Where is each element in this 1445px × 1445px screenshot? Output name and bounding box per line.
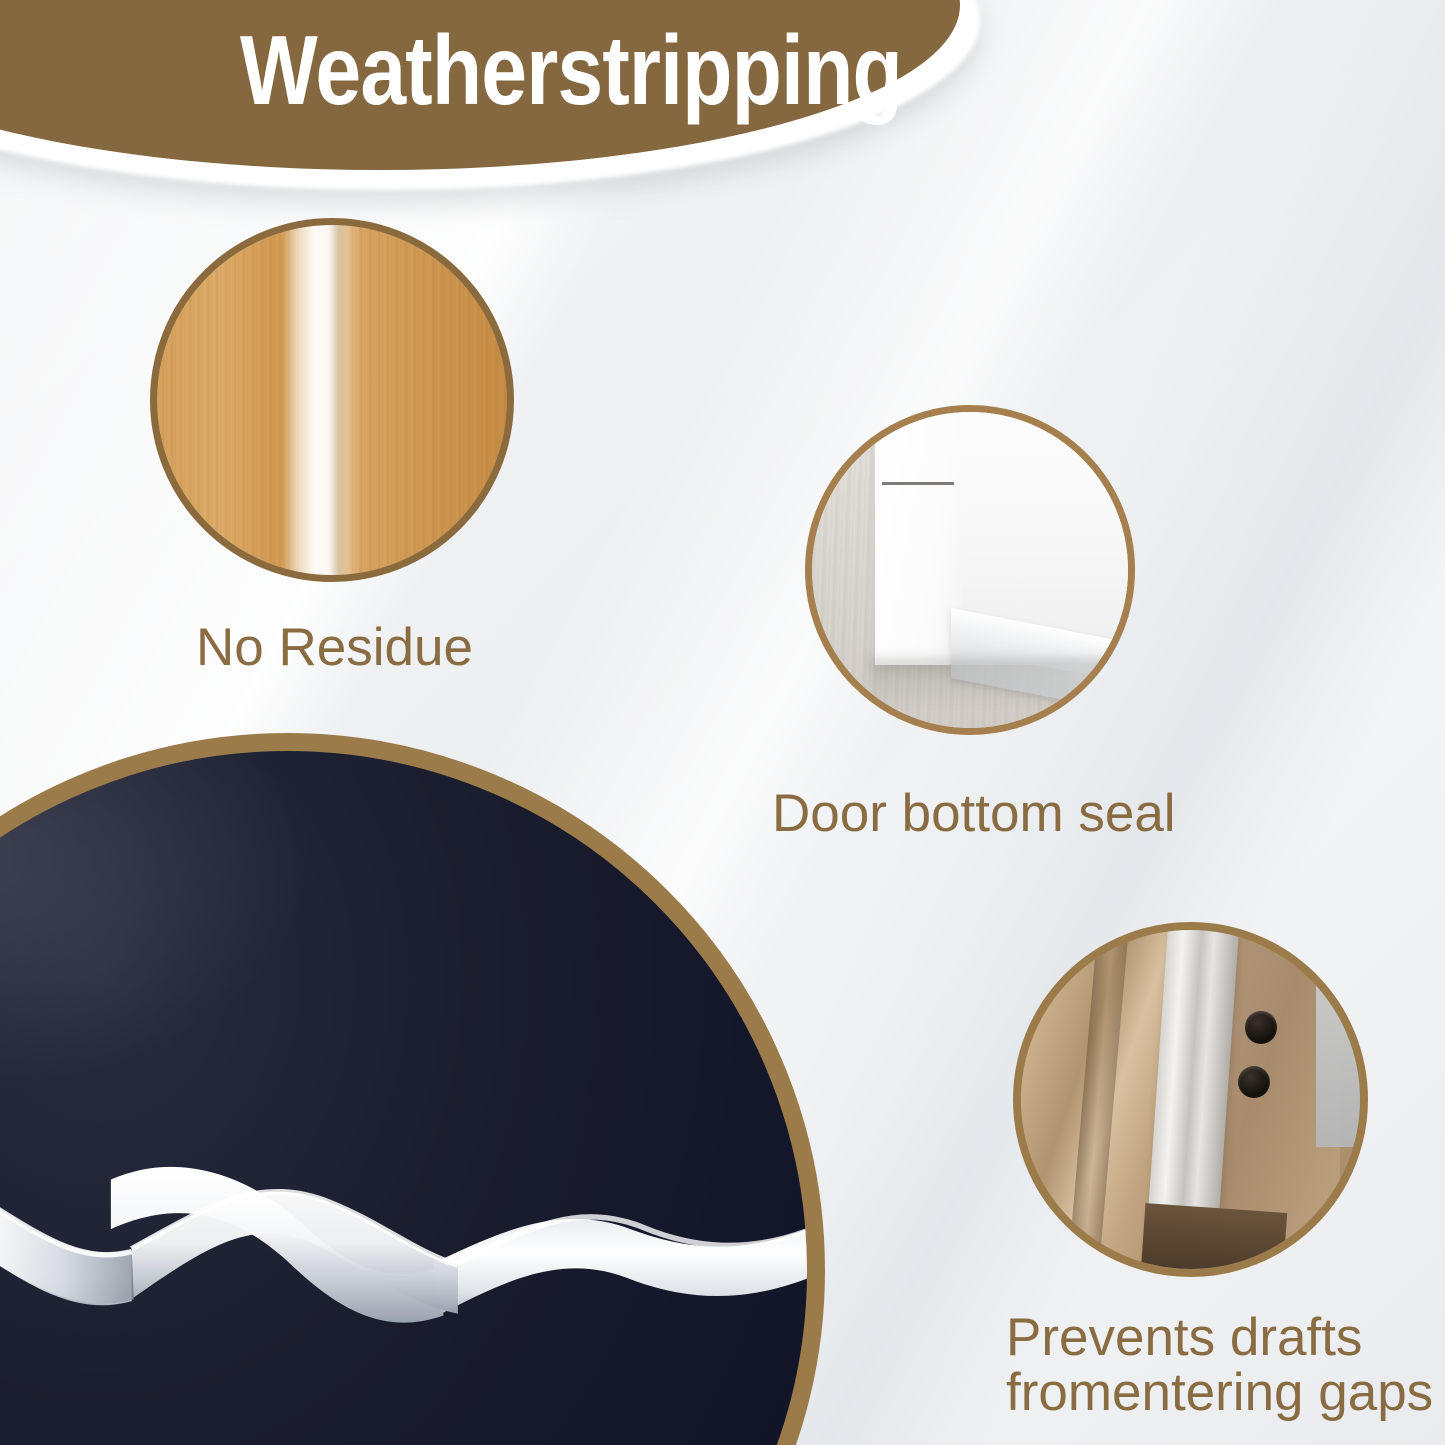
gap-shadow bbox=[1141, 1203, 1288, 1277]
twisted-strip-wrap bbox=[0, 1094, 807, 1364]
baseboard-line bbox=[882, 482, 955, 485]
page-title: Weatherstripping bbox=[240, 14, 902, 127]
door-shadow bbox=[869, 658, 1115, 709]
backdrop-gloss bbox=[0, 733, 329, 1104]
infographic-canvas: Weatherstripping No Residue Door bottom … bbox=[0, 0, 1445, 1445]
feature-caption-no-residue: No Residue bbox=[196, 620, 473, 675]
glass-panel bbox=[1316, 950, 1368, 1147]
hinge-hole-icon bbox=[1245, 1011, 1277, 1043]
feature-image-product-strip bbox=[0, 733, 825, 1445]
feature-image-door-bottom-seal bbox=[805, 405, 1135, 735]
caption-line-2: fromentering gaps bbox=[1006, 1365, 1433, 1420]
twisted-silicone-strip bbox=[0, 1094, 807, 1364]
feature-image-no-residue bbox=[150, 218, 514, 582]
hinge-hole-icon bbox=[1238, 1066, 1270, 1098]
caption-line-1: Prevents drafts bbox=[1006, 1308, 1362, 1367]
feature-caption-prevents-drafts: Prevents drafts fromentering gaps bbox=[1006, 1310, 1433, 1420]
feature-image-prevents-drafts bbox=[1013, 922, 1368, 1277]
feature-caption-door-bottom-seal: Door bottom seal bbox=[772, 786, 1176, 841]
